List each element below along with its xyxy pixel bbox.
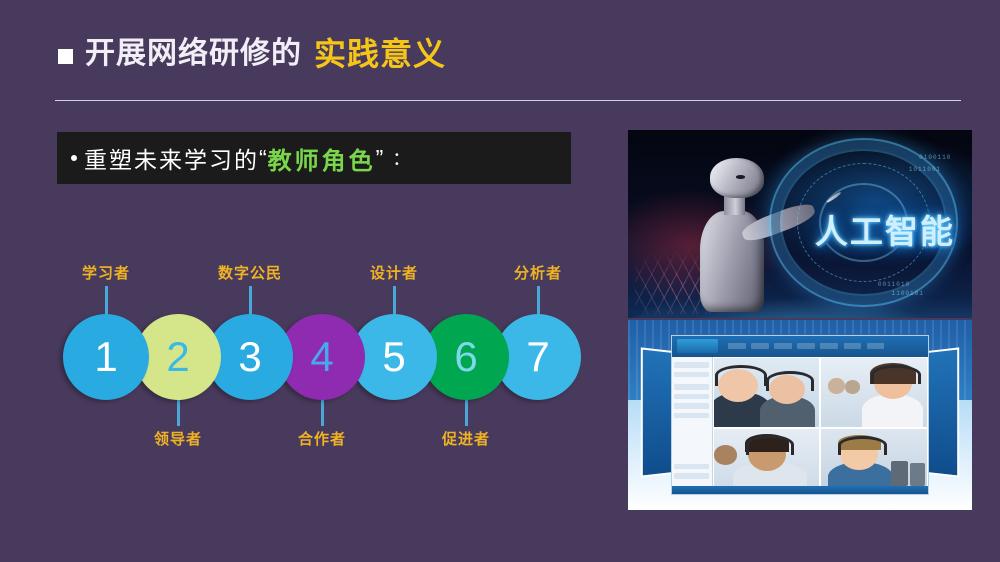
binary-text-decoration: 1100101 <box>892 290 924 297</box>
monitor-shape <box>891 461 908 487</box>
quote-open: “ <box>259 145 268 172</box>
node-label-2: 领导者 <box>154 428 202 449</box>
participant-tile <box>713 357 821 428</box>
node-connector-line <box>537 286 540 316</box>
node-connector-line <box>105 286 108 316</box>
subtitle-accent: 教师角色 <box>268 141 376 176</box>
node-label-7: 分析者 <box>514 262 562 283</box>
page-title: 开展网络研修的 实践意义 <box>58 38 446 70</box>
sidebar-row <box>674 394 708 399</box>
conference-app-logo <box>677 339 718 353</box>
subtitle-colon: ： <box>392 145 410 171</box>
sidebar-row <box>674 473 708 478</box>
conference-app-statusbar <box>672 486 928 494</box>
slide-canvas: 开展网络研修的 实践意义 重塑未来学习的 “ 教师角色 ” ： 学习者1领导者2… <box>0 0 1000 562</box>
conference-app-menu-item <box>728 343 746 349</box>
conference-app-menu-item <box>820 343 838 349</box>
robot-eye <box>736 175 746 179</box>
background-person <box>845 380 861 394</box>
dot-bullet-icon <box>71 155 77 161</box>
sidebar-row <box>674 362 708 367</box>
background-person <box>714 445 737 464</box>
sidebar-row <box>674 464 708 469</box>
node-connector-line <box>393 286 396 316</box>
headset-icon <box>746 435 794 455</box>
node-connector-line <box>321 398 324 426</box>
video-conference-software-photo <box>628 320 972 510</box>
robot-neck <box>724 195 745 215</box>
monitor-shape <box>910 463 925 486</box>
participant-tile <box>820 357 928 428</box>
node-connector-line <box>465 398 468 426</box>
background-person <box>828 378 845 393</box>
conference-app-menu-item <box>867 343 885 349</box>
robot-head <box>710 158 764 198</box>
conference-app-menu-item <box>844 343 862 349</box>
square-bullet-icon <box>58 49 73 64</box>
page-title-accent: 实践意义 <box>314 38 446 70</box>
conference-app-titlebar <box>672 336 928 356</box>
node-label-6: 促进者 <box>442 428 490 449</box>
diagram-node-1[interactable]: 1 <box>63 314 149 400</box>
node-connector-line <box>177 398 180 426</box>
sidebar-row <box>674 372 708 377</box>
ai-photo-headline: 人工智能 <box>815 205 955 253</box>
node-label-4: 合作者 <box>298 428 346 449</box>
role-sequence-diagram: 学习者1领导者2数字公民3合作者4设计者5促进者6分析者7 <box>55 258 575 458</box>
conference-app-window <box>671 335 929 495</box>
node-label-1: 学习者 <box>82 262 130 283</box>
sidebar-row <box>674 403 708 408</box>
binary-text-decoration: 0100110 <box>919 154 951 161</box>
headset-icon <box>715 365 767 386</box>
sidebar-row <box>674 384 708 389</box>
conference-app-menu-item <box>751 343 769 349</box>
conference-app-menu-item <box>774 343 792 349</box>
participant-tile <box>713 428 821 494</box>
subtitle-lead: 重塑未来学习的 <box>84 141 259 175</box>
conference-app-menu-item <box>797 343 815 349</box>
node-label-5: 设计者 <box>370 262 418 283</box>
conference-app-sidebar <box>672 357 713 494</box>
title-divider <box>55 100 961 101</box>
binary-text-decoration: 1011001 <box>909 166 941 173</box>
participant-tile <box>820 428 928 494</box>
artificial-intelligence-robot-photo: 0100110 1011001 0011010 1100101 人工智能 <box>628 130 972 318</box>
page-title-main: 开展网络研修的 <box>85 39 302 69</box>
sidebar-row <box>674 413 708 418</box>
binary-text-decoration: 0011010 <box>878 281 910 288</box>
node-label-3: 数字公民 <box>218 262 282 283</box>
subtitle-banner: 重塑未来学习的 “ 教师角色 ” ： <box>57 132 571 184</box>
headset-icon <box>838 436 886 454</box>
node-connector-line <box>249 286 252 316</box>
headset-icon <box>871 365 921 385</box>
quote-close: ” <box>376 145 385 172</box>
headset-icon <box>766 371 814 391</box>
